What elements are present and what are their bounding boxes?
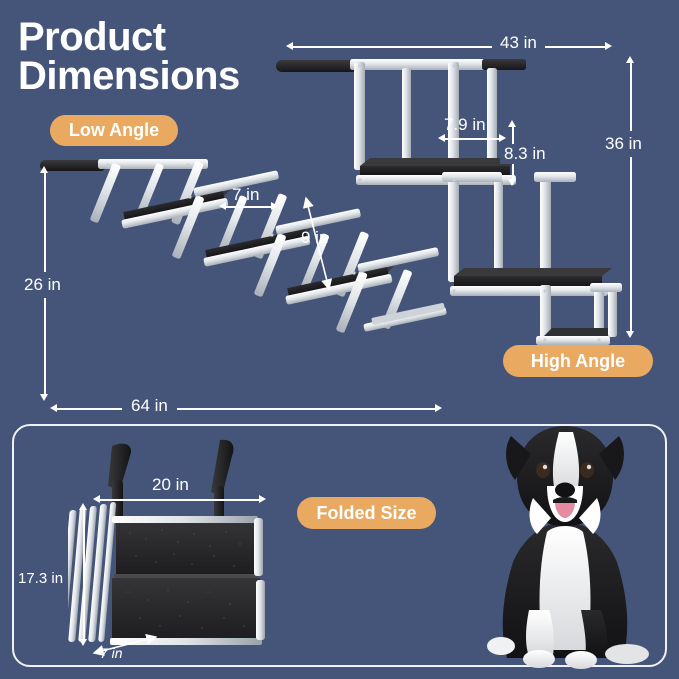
badge-high-angle[interactable]: High Angle xyxy=(503,345,653,377)
badge-low-angle[interactable]: Low Angle xyxy=(50,115,178,146)
arrow-right-icon xyxy=(259,495,266,503)
dim-label-high-rise: 8.3 in xyxy=(500,144,550,164)
dim-label-folded-width: 20 in xyxy=(152,475,189,495)
dim-line-36in xyxy=(630,62,632,334)
infographic-canvas: Product Dimensions xyxy=(0,0,679,679)
arrow-left-icon xyxy=(219,202,226,210)
arrow-up-icon xyxy=(508,120,516,127)
dim-label-high-width: 43 in xyxy=(492,33,545,53)
arrow-left-icon xyxy=(50,404,57,412)
dim-line-43in xyxy=(292,46,608,48)
page-title: Product Dimensions xyxy=(18,18,240,96)
folded-unit-image xyxy=(68,438,288,653)
dim-label-high-height: 36 in xyxy=(601,131,646,157)
dim-label-folded-depth: 7 in xyxy=(100,645,123,661)
title-line-2: Dimensions xyxy=(18,57,240,96)
dim-line-79in xyxy=(444,138,502,140)
badge-folded-size-label: Folded Size xyxy=(316,503,416,524)
dim-label-low-spacing: 9 in xyxy=(301,228,328,248)
dim-label-folded-height: 17.3 in xyxy=(18,570,63,587)
arrow-down-icon xyxy=(79,639,87,646)
arrow-left-icon xyxy=(286,42,293,50)
badge-folded-size[interactable]: Folded Size xyxy=(297,497,436,529)
arrow-up-icon xyxy=(79,503,87,510)
border-collie-photo xyxy=(455,414,675,679)
arrow-down-icon xyxy=(40,394,48,401)
arrow-left-icon xyxy=(93,495,100,503)
arrow-right-icon xyxy=(605,42,612,50)
dim-label-low-tread: 7 in xyxy=(232,185,259,205)
dim-line-64in xyxy=(56,408,438,410)
arrow-up-icon xyxy=(626,56,634,63)
arrow-down-icon xyxy=(626,331,634,338)
dim-line-173in xyxy=(83,508,85,642)
dim-line-20in xyxy=(98,499,262,501)
arrow-right-icon xyxy=(271,202,278,210)
arrow-right-icon xyxy=(435,404,442,412)
arrow-left-icon xyxy=(438,134,445,142)
badge-low-angle-label: Low Angle xyxy=(69,120,159,141)
dim-label-low-length: 64 in xyxy=(122,396,177,416)
dim-label-high-tread: 7.9 in xyxy=(444,115,486,135)
badge-high-angle-label: High Angle xyxy=(531,351,625,372)
dim-line-7in xyxy=(224,206,274,208)
title-line-1: Product xyxy=(18,18,240,57)
arrow-down-icon xyxy=(508,179,516,186)
arrow-up-icon xyxy=(40,166,48,173)
dim-label-low-height: 26 in xyxy=(20,272,65,298)
arrow-right-icon xyxy=(499,134,506,142)
